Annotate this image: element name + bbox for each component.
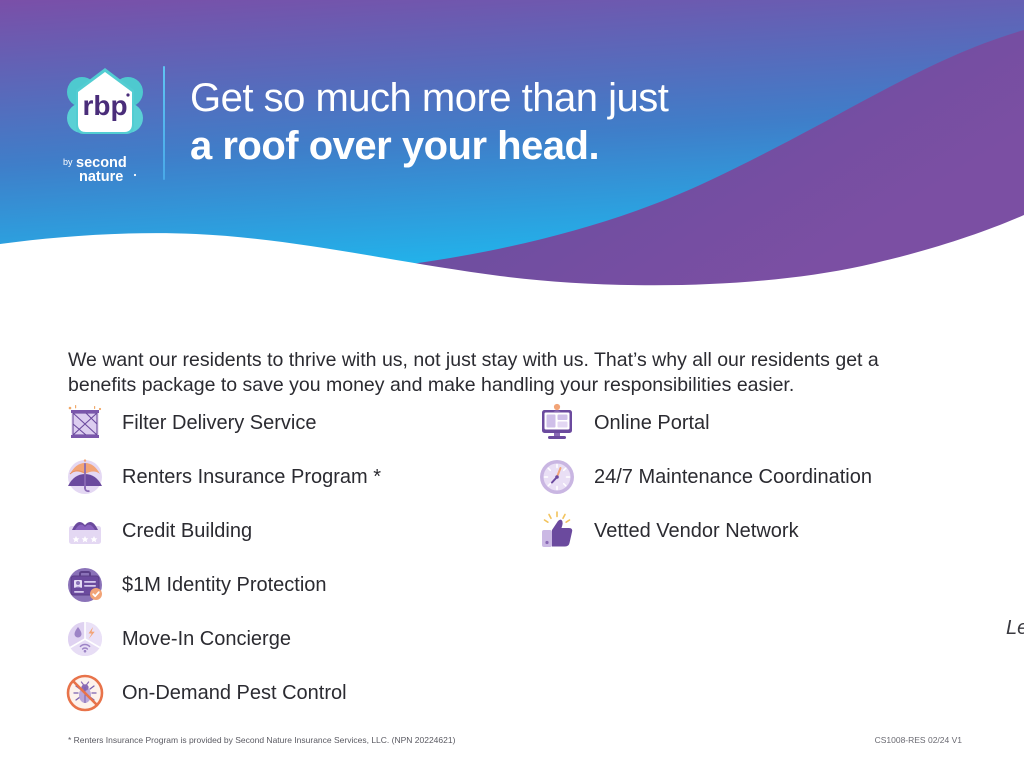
logo-nature-text: nature [79, 169, 123, 185]
headline-line-1: Get so much more than just [190, 74, 950, 122]
id-protection-icon [62, 562, 108, 608]
air-filter-icon [62, 400, 108, 446]
benefit-maintenance-coordination: 24/7 Maintenance Coordination [534, 450, 974, 504]
benefit-pest-control: On-Demand Pest Control [62, 666, 502, 720]
header-divider [163, 66, 165, 180]
benefits-column-left: Filter Delivery Service Renters Insuranc… [62, 396, 502, 720]
footer-doc-code: CS1008-RES 02/24 V1 [875, 735, 962, 746]
credit-stars-icon [62, 508, 108, 554]
rbp-badge-icon: rbp [62, 62, 148, 148]
intro-paragraph: We want our residents to thrive with us,… [68, 348, 934, 398]
monitor-portal-icon [534, 400, 580, 446]
second-nature-lockup: by second nature [56, 152, 154, 186]
thumbs-up-icon [534, 508, 580, 554]
benefit-label: Credit Building [122, 519, 252, 543]
benefit-identity-protection: $1M Identity Protection [62, 558, 502, 612]
umbrella-icon [62, 454, 108, 500]
rbp-wordmark: rbp [82, 90, 127, 121]
benefit-label: Move-In Concierge [122, 627, 291, 651]
header-banner: rbp by second nature Get so much more th… [0, 0, 1024, 290]
benefit-online-portal: Online Portal [534, 396, 974, 450]
flyer-page: rbp by second nature Get so much more th… [0, 0, 1024, 769]
benefit-renters-insurance-program: Renters Insurance Program * [62, 450, 502, 504]
headline: Get so much more than just a roof over y… [190, 74, 950, 170]
benefit-label: Filter Delivery Service [122, 411, 316, 435]
benefit-label: 24/7 Maintenance Coordination [594, 465, 872, 489]
clock-icon [534, 454, 580, 500]
benefit-credit-building: Credit Building [62, 504, 502, 558]
headline-line-2: a roof over your head. [190, 122, 950, 170]
benefit-vetted-vendor-network: Vetted Vendor Network [534, 504, 974, 558]
benefit-label: On-Demand Pest Control [122, 681, 347, 705]
benefit-label: Renters Insurance Program * [122, 465, 381, 489]
rbp-logo: rbp by second nature [56, 62, 154, 188]
learn-more-text: Learn more at secondnature.com/residents [1006, 616, 1024, 640]
move-in-concierge-icon [62, 616, 108, 662]
benefits-column-right: Online Portal [534, 396, 974, 558]
footer-disclaimer: * Renters Insurance Program is provided … [68, 735, 455, 746]
logo-by-text: by [63, 157, 73, 167]
benefit-filter-delivery-service: Filter Delivery Service [62, 396, 502, 450]
benefit-label: Online Portal [594, 411, 710, 435]
benefit-move-in-concierge: Move-In Concierge [62, 612, 502, 666]
benefit-label: Vetted Vendor Network [594, 519, 799, 543]
no-pest-icon [62, 670, 108, 716]
benefit-label: $1M Identity Protection [122, 573, 327, 597]
benefits-section: Filter Delivery Service Renters Insuranc… [62, 396, 982, 706]
